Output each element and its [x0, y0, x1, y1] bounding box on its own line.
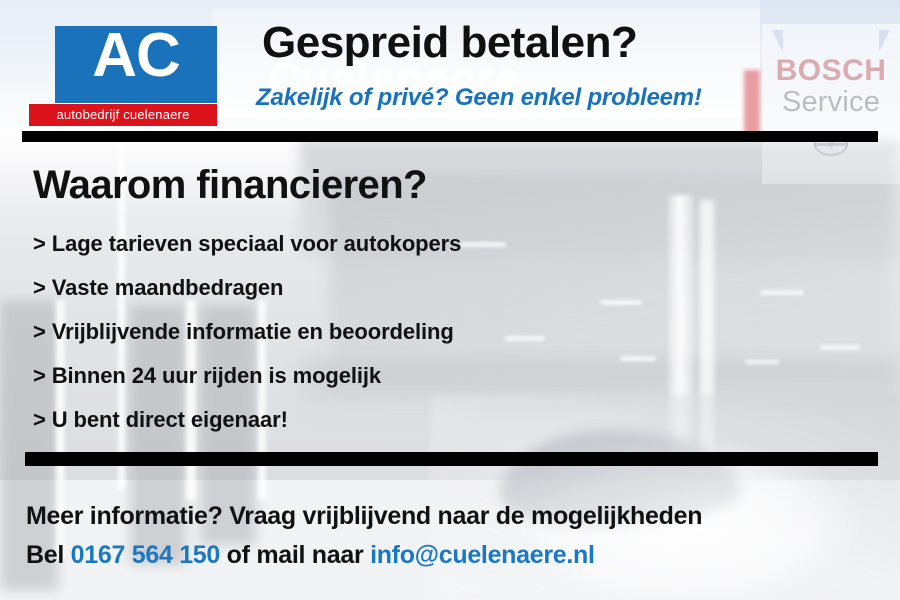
chevron-right-icon: > — [33, 231, 46, 256]
ac-autobedrijf-logo[interactable]: AC autobedrijf cuelenaere — [55, 26, 217, 118]
chevron-right-icon: > — [33, 319, 46, 344]
list-item-label: Vaste maandbedragen — [52, 275, 284, 300]
bel-label: Bel — [26, 541, 64, 569]
list-item: >Vrijblijvende informatie en beoordeling — [33, 310, 653, 354]
header-right-panel — [760, 0, 900, 132]
headline: Gespreid betalen? — [262, 18, 637, 68]
footer-contact-line: Bel 0167 564 150 of mail naar info@cuele… — [26, 535, 886, 575]
divider-top — [22, 131, 878, 142]
mail-label: of mail naar — [227, 541, 364, 569]
chevron-right-icon: > — [33, 407, 46, 432]
logo-tagline: autobedrijf cuelenaere — [29, 104, 217, 126]
list-item-label: U bent direct eigenaar! — [52, 407, 288, 432]
list-item: >U bent direct eigenaar! — [33, 398, 653, 442]
email-address[interactable]: info@cuelenaere.nl — [370, 541, 595, 569]
divider-bottom — [25, 452, 878, 466]
phone-number[interactable]: 0167 564 150 — [71, 541, 220, 569]
logo-red-band: autobedrijf cuelenaere — [29, 103, 217, 127]
finance-promo-banner: BOSCH Service Cuelenaere AC autobedrijf … — [0, 0, 900, 600]
footer-info-line: Meer informatie? Vraag vrijblijvend naar… — [26, 497, 886, 535]
background-red-accent — [744, 70, 760, 134]
list-item: >Binnen 24 uur rijden is mogelijk — [33, 354, 653, 398]
ceiling-light-speck — [745, 360, 779, 364]
chevron-right-icon: > — [33, 363, 46, 388]
list-item-label: Lage tarieven speciaal voor autokopers — [52, 231, 461, 256]
subheadline: Zakelijk of privé? Geen enkel probleem! — [256, 84, 702, 112]
section-title: Waarom financieren? — [33, 163, 427, 208]
ceiling-light-speck — [760, 290, 804, 295]
ceiling-light-speck — [820, 345, 860, 350]
logo-initials: AC — [55, 18, 217, 94]
chevron-right-icon: > — [33, 275, 46, 300]
list-item: >Lage tarieven speciaal voor autokopers — [33, 222, 653, 266]
list-item-label: Binnen 24 uur rijden is mogelijk — [52, 363, 381, 388]
contact-footer: Meer informatie? Vraag vrijblijvend naar… — [26, 497, 886, 575]
list-item: >Vaste maandbedragen — [33, 266, 653, 310]
benefit-list: >Lage tarieven speciaal voor autokopers … — [33, 222, 653, 442]
list-item-label: Vrijblijvende informatie en beoordeling — [52, 319, 454, 344]
